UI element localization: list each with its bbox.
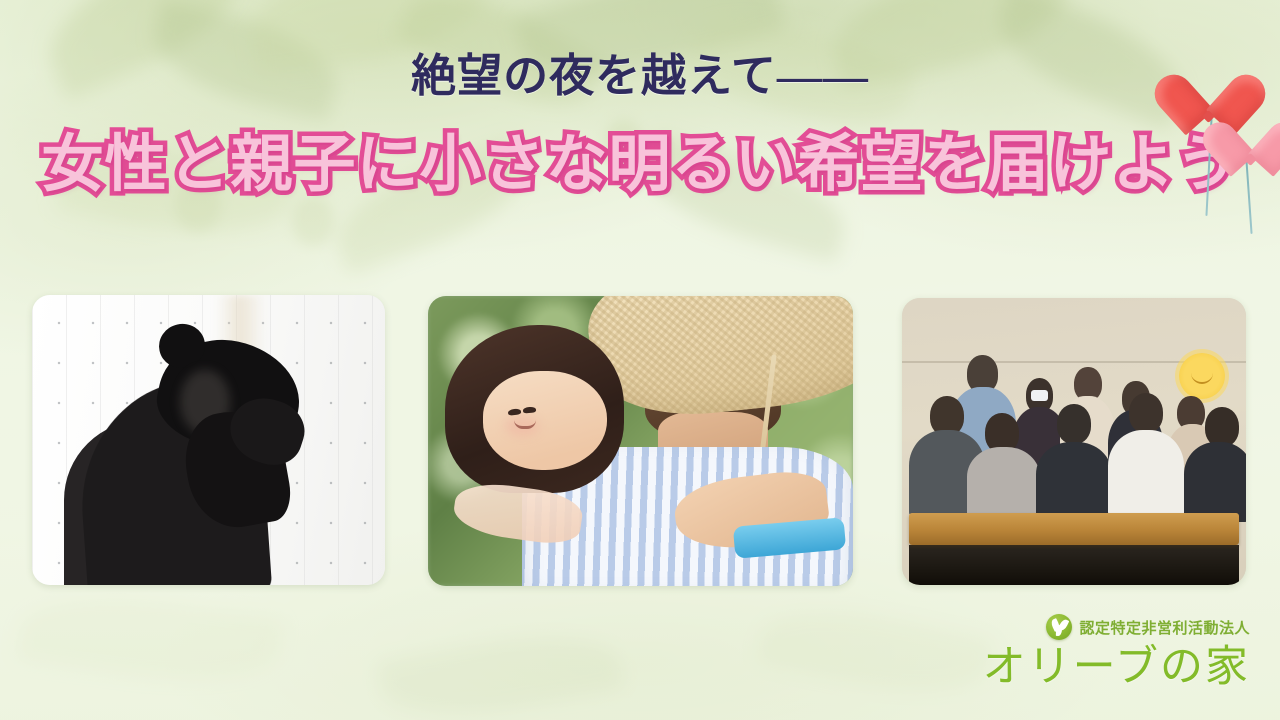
heart-balloons-decoration bbox=[1096, 30, 1274, 230]
organization-name: オリーブの家 bbox=[950, 644, 1250, 690]
person-body bbox=[1036, 442, 1112, 522]
balloon-string-icon bbox=[1245, 160, 1252, 234]
wooden-table bbox=[909, 513, 1239, 545]
person-body bbox=[1184, 442, 1246, 522]
organization-type-label: 認定特定非営利活動法人 bbox=[1079, 617, 1250, 638]
child-face bbox=[483, 371, 606, 470]
poster-subtitle: 絶望の夜を越えて—— bbox=[0, 54, 1280, 99]
person-body bbox=[967, 447, 1039, 522]
under-table-shadow bbox=[909, 545, 1239, 585]
sun-smiley-decoration bbox=[1179, 353, 1225, 399]
photo-child-hugging-parent bbox=[428, 296, 853, 586]
photo-distressed-woman bbox=[32, 295, 385, 585]
child-eye bbox=[522, 406, 535, 413]
person-head bbox=[1129, 393, 1163, 433]
poster-canvas: 絶望の夜を越えて—— 女性と親子に小さな明るい希望を届けよう bbox=[0, 0, 1280, 720]
poster-headline: 女性と親子に小さな明るい希望を届けよう bbox=[0, 131, 1280, 197]
face-mask bbox=[1031, 390, 1048, 401]
person-body bbox=[1108, 430, 1184, 519]
organization-logo: 認定特定非営利活動法人 オリーブの家 bbox=[950, 612, 1250, 712]
heart-balloon-pink-icon bbox=[1220, 100, 1280, 158]
photo-staff-group bbox=[902, 298, 1246, 585]
child-eye bbox=[508, 408, 522, 416]
person-head bbox=[1057, 404, 1091, 444]
olive-leaf-circle-icon bbox=[1046, 614, 1072, 640]
